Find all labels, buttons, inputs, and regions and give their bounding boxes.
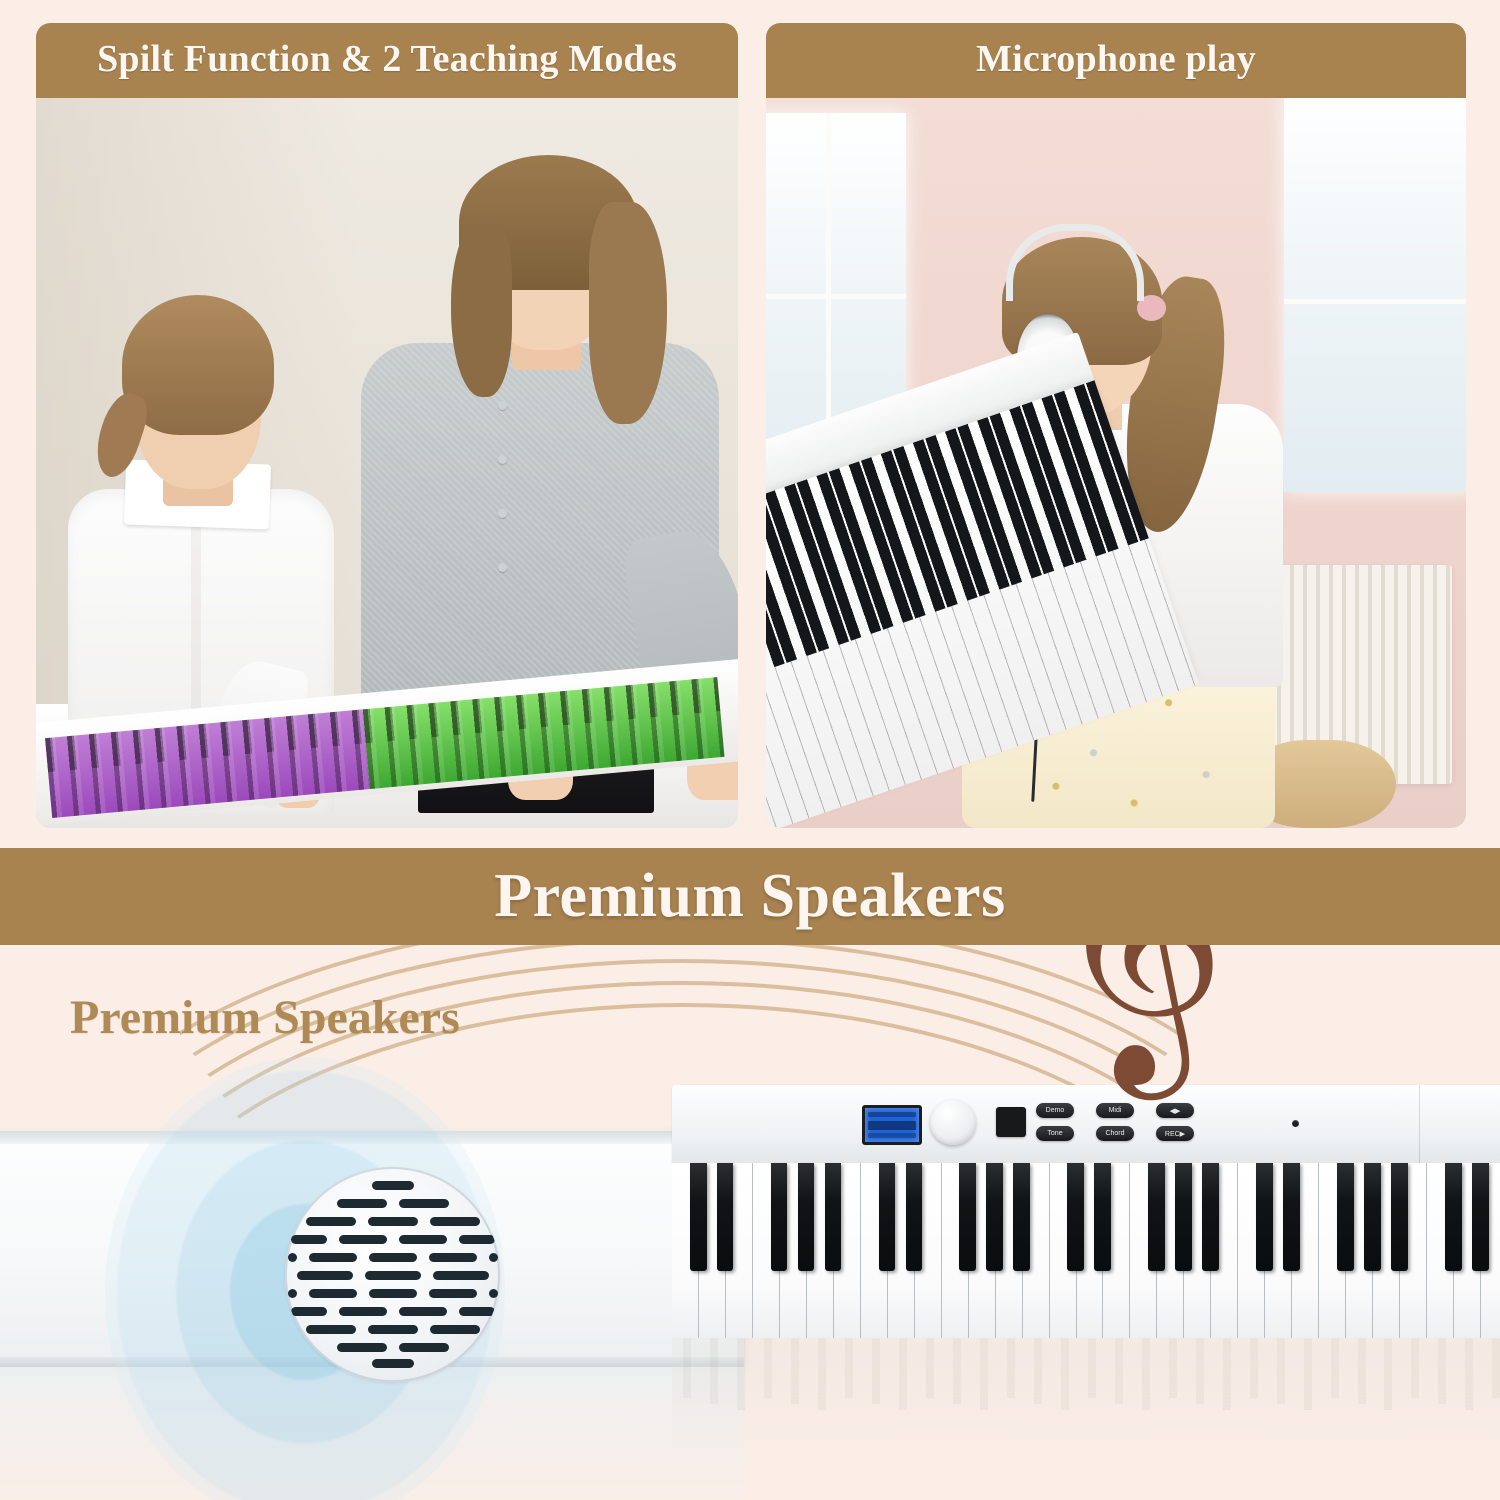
key-reflection — [1169, 1338, 1177, 1398]
premium-speakers-banner: Premium Speakers — [0, 848, 1500, 945]
key-bed[interactable] — [672, 1163, 1500, 1338]
teacher-hair-left — [451, 222, 512, 397]
window-mullion — [766, 294, 906, 299]
key-reflection — [737, 1338, 745, 1410]
black-key[interactable] — [906, 1163, 923, 1271]
key-reflection — [1438, 1338, 1446, 1404]
key-reflection — [1331, 1338, 1339, 1398]
black-key[interactable] — [1202, 1163, 1219, 1271]
volume-up-button[interactable]: ◀▶ — [1156, 1103, 1194, 1118]
black-key[interactable] — [825, 1163, 842, 1271]
key-reflection — [1034, 1338, 1042, 1404]
card-header-split-function: Spilt Function & 2 Teaching Modes — [36, 23, 738, 98]
black-key[interactable] — [1364, 1163, 1381, 1271]
cardigan-button — [498, 401, 507, 410]
photo-split-function — [36, 98, 738, 828]
product-feature-page: Spilt Function & 2 Teaching Modes — [0, 0, 1500, 1500]
cardigan-button — [498, 563, 507, 572]
black-key[interactable] — [798, 1163, 815, 1271]
black-key[interactable] — [690, 1163, 707, 1271]
black-key[interactable] — [1148, 1163, 1165, 1271]
key-reflection — [980, 1338, 988, 1410]
black-key[interactable] — [1256, 1163, 1273, 1271]
black-key[interactable] — [1472, 1163, 1489, 1271]
power-button[interactable] — [996, 1107, 1026, 1137]
key-reflection — [710, 1338, 718, 1404]
control-panel: Demo Tone Midi Chord ◀▶ REC▶ — [672, 1085, 1500, 1163]
banner-title: Premium Speakers — [494, 861, 1005, 932]
black-key[interactable] — [1067, 1163, 1084, 1271]
feature-card-microphone-play: Microphone play — [766, 23, 1466, 828]
key-reflection — [1411, 1338, 1419, 1398]
black-key[interactable] — [879, 1163, 896, 1271]
black-key[interactable] — [1013, 1163, 1030, 1271]
headphone-band — [1006, 224, 1144, 301]
keyboard-reflection — [672, 1338, 1500, 1463]
cardigan-button — [498, 509, 507, 518]
black-key[interactable] — [1175, 1163, 1192, 1271]
feature-card-split-function: Spilt Function & 2 Teaching Modes — [36, 23, 738, 828]
lcd-display[interactable] — [862, 1105, 922, 1145]
black-key[interactable] — [1094, 1163, 1111, 1271]
hero-subheading: Premium Speakers — [70, 990, 460, 1045]
key-reflection — [1304, 1338, 1312, 1410]
key-reflection — [1142, 1338, 1150, 1410]
black-key[interactable] — [986, 1163, 1003, 1271]
key-reflection — [1007, 1338, 1015, 1398]
panel-seam — [1419, 1085, 1420, 1163]
record-play-button[interactable]: REC▶ — [1156, 1126, 1194, 1141]
black-key[interactable] — [771, 1163, 788, 1271]
key-reflection — [764, 1338, 772, 1398]
key-reflection — [1088, 1338, 1096, 1398]
midi-button[interactable]: Midi — [1096, 1103, 1134, 1118]
black-key[interactable] — [1445, 1163, 1462, 1271]
photo-microphone-play — [766, 98, 1466, 828]
piano-keyboard: Demo Tone Midi Chord ◀▶ REC▶ — [672, 1085, 1500, 1385]
key-reflection — [1465, 1338, 1473, 1410]
key-reflection — [899, 1338, 907, 1410]
key-reflection — [953, 1338, 961, 1404]
volume-knob[interactable] — [930, 1099, 976, 1145]
treble-clef-icon: 𝄞 — [1050, 945, 1227, 1060]
key-reflection — [1358, 1338, 1366, 1404]
key-reflection — [1061, 1338, 1069, 1410]
key-reflection — [1115, 1338, 1123, 1404]
black-key[interactable] — [717, 1163, 734, 1271]
key-reflection — [791, 1338, 799, 1404]
black-key[interactable] — [1283, 1163, 1300, 1271]
key-reflection — [1223, 1338, 1231, 1410]
chord-button[interactable]: Chord — [1096, 1126, 1134, 1141]
key-reflection — [818, 1338, 826, 1410]
cardigan-button — [498, 455, 507, 464]
black-key[interactable] — [1391, 1163, 1408, 1271]
key-reflection — [1384, 1338, 1392, 1410]
card-header-microphone-play: Microphone play — [766, 23, 1466, 98]
key-reflection — [926, 1338, 934, 1398]
demo-button[interactable]: Demo — [1036, 1103, 1074, 1118]
key-reflection — [683, 1338, 691, 1398]
black-key[interactable] — [959, 1163, 976, 1271]
key-reflection — [872, 1338, 880, 1404]
teacher-hair-right — [589, 202, 666, 424]
key-reflection — [1196, 1338, 1204, 1404]
key-reflection — [845, 1338, 853, 1398]
key-reflection — [1277, 1338, 1285, 1404]
black-key[interactable] — [1337, 1163, 1354, 1271]
key-reflection — [1250, 1338, 1258, 1398]
speaker-grille — [285, 1167, 500, 1382]
hero-section: Premium Speakers — [0, 945, 1500, 1500]
tone-button[interactable]: Tone — [1036, 1126, 1074, 1141]
key-reflection — [1492, 1338, 1500, 1398]
sensor-indicator — [1292, 1120, 1299, 1127]
